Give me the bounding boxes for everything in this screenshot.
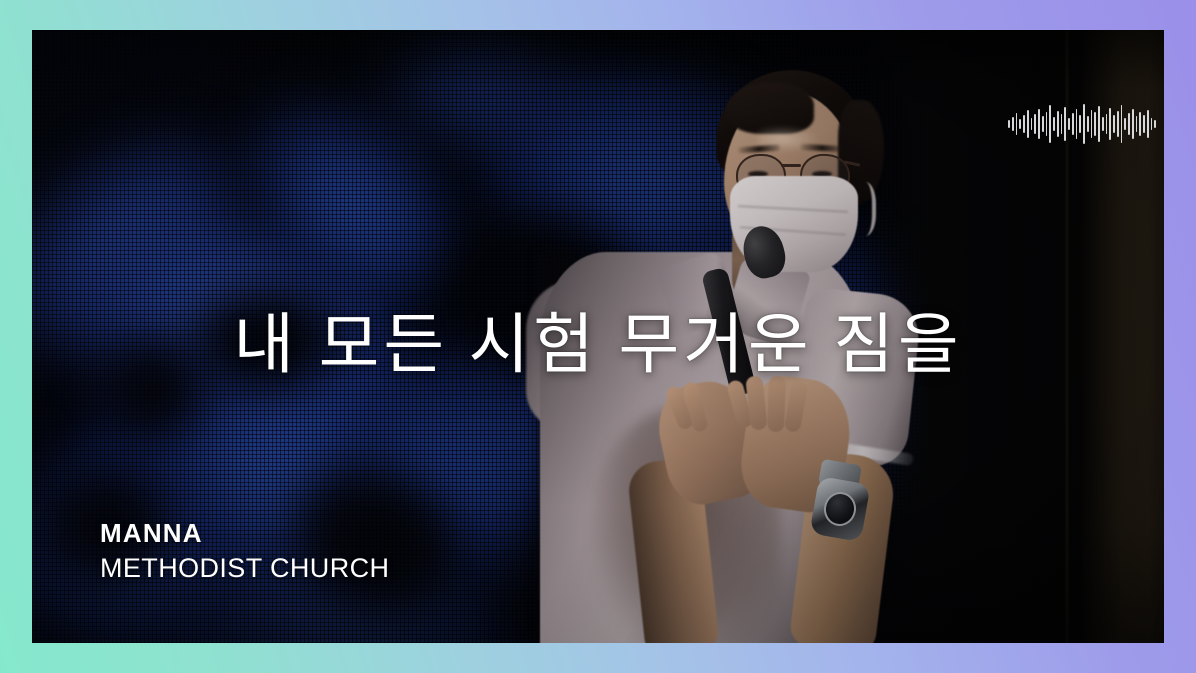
waveform-bar <box>1132 109 1134 139</box>
waveform-bar <box>1042 116 1044 132</box>
waveform-bar <box>1143 115 1145 133</box>
waveform-bar <box>1106 114 1108 134</box>
waveform-bar <box>1019 119 1021 129</box>
waveform-bar <box>1098 106 1100 142</box>
video-frame[interactable]: 내 모든 시험 무거운 짐을 MANNA METHODIST CHURCH <box>32 30 1164 643</box>
waveform-bar <box>1027 110 1029 138</box>
waveform-bar <box>1151 118 1153 130</box>
waveform-bar <box>1053 117 1055 131</box>
waveform-bar <box>1016 113 1018 135</box>
waveform-bar <box>1046 112 1048 136</box>
waveform-bar <box>1091 110 1093 138</box>
waveform-bar <box>1012 117 1014 131</box>
waveform-bar <box>1139 112 1141 136</box>
waveform-bar <box>1076 109 1078 139</box>
waveform-bar <box>1094 112 1096 136</box>
waveform-bar <box>1049 105 1051 143</box>
waveform-bar <box>1113 115 1115 133</box>
waveform-bar <box>1117 111 1119 137</box>
waveform-bar <box>1083 104 1085 144</box>
waveform-bar <box>1147 110 1149 138</box>
waveform-bar <box>1109 108 1111 140</box>
waveform-bar <box>1057 111 1059 137</box>
waveform-bar <box>1136 116 1138 132</box>
waveform-bar <box>1023 115 1025 133</box>
waveform-bar <box>1031 118 1033 130</box>
lyric-caption: 내 모든 시험 무거운 짐을 <box>32 308 1164 384</box>
waveform-bar <box>1072 113 1074 135</box>
slide-canvas: 내 모든 시험 무거운 짐을 MANNA METHODIST CHURCH <box>0 0 1196 673</box>
audio-waveform-icon <box>1008 102 1156 146</box>
church-logo: MANNA METHODIST CHURCH <box>100 518 389 585</box>
waveform-bar <box>1038 109 1040 139</box>
waveform-bar <box>1034 114 1036 134</box>
waveform-bar <box>1102 117 1104 131</box>
waveform-bar <box>1124 118 1126 130</box>
church-logo-name: MANNA <box>100 518 389 550</box>
waveform-bar <box>1154 120 1156 128</box>
waveform-bar <box>1087 116 1089 132</box>
waveform-bar <box>1008 120 1010 128</box>
church-logo-subtitle: METHODIST CHURCH <box>100 552 389 585</box>
waveform-bar <box>1128 113 1130 135</box>
waveform-bar <box>1061 114 1063 134</box>
waveform-bar <box>1121 105 1123 143</box>
waveform-bar <box>1064 107 1066 141</box>
waveform-bar <box>1068 118 1070 130</box>
waveform-bar <box>1079 115 1081 133</box>
